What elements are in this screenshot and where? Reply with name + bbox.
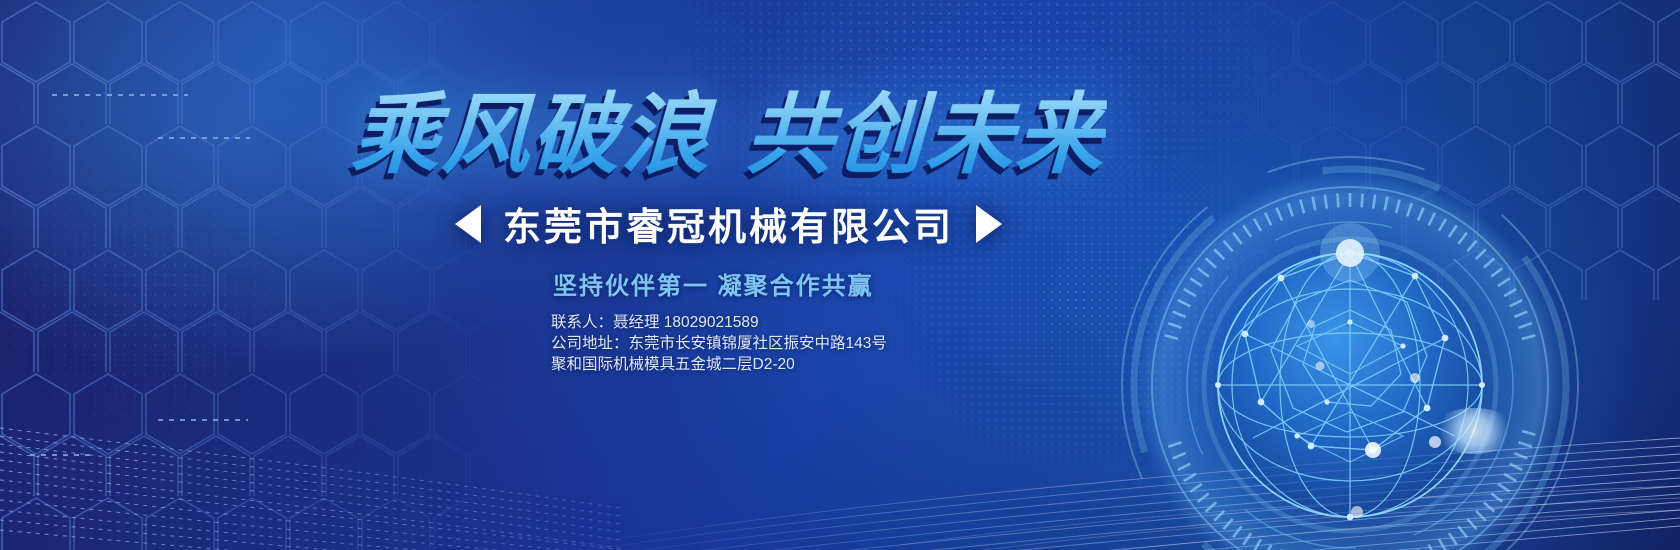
address-label: 公司地址：: [551, 335, 629, 352]
company-name-row: 东莞市睿冠机械有限公司: [455, 196, 1002, 251]
page-title: 乘风破浪共创未来: [350, 64, 1108, 191]
triangle-left-icon: [455, 205, 481, 243]
headline-part-2: 共创未来: [744, 85, 1107, 184]
tech-globe-graphic: [1115, 150, 1585, 540]
contact-person-line: 联系人：聂经理 18029021589: [551, 312, 891, 333]
company-address-line: 公司地址：东莞市长安镇锦厦社区振安中路143号聚和国际机械模具五金城二层D2-2…: [551, 333, 891, 375]
headline-part-1: 乘风破浪: [350, 85, 713, 184]
company-name: 东莞市睿冠机械有限公司: [503, 196, 954, 251]
slogan: 坚持伙伴第一 凝聚合作共赢: [553, 266, 874, 301]
triangle-right-icon: [976, 205, 1002, 243]
contact-block: 联系人：聂经理 18029021589 公司地址：东莞市长安镇锦厦社区振安中路1…: [551, 312, 891, 375]
banner-root: 乘风破浪共创未来 东莞市睿冠机械有限公司 坚持伙伴第一 凝聚合作共赢 联系人：聂…: [0, 0, 1680, 550]
